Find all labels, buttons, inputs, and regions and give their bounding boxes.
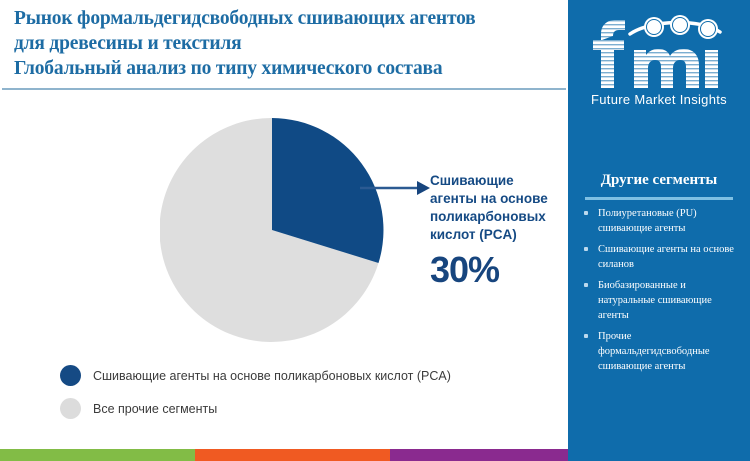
fmi-logo: Future Market Insights [568,0,750,110]
footer-color-bar [0,449,568,461]
callout-percentage: 30% [430,250,558,290]
bullet-icon [584,283,588,287]
pie-chart [160,118,384,343]
color-bar-green [0,449,195,461]
other-segments-title: Другие сегменты [568,172,750,189]
fmi-logo-tagline: Future Market Insights [591,92,727,107]
list-item: Прочие формальдегидсвободные сшивающие а… [584,329,742,374]
callout-arrow-icon [360,176,432,202]
chart-legend: Сшивающие агенты на основе поликарбоновы… [60,365,530,431]
title-line-1: Рынок формальдегидсвободных сшивающих аг… [14,6,559,31]
bullet-icon [584,211,588,215]
legend-swatch-icon [60,398,81,419]
callout-block: Сшивающие агенты на основе поликарбоновы… [430,172,558,290]
color-bar-purple [390,449,568,461]
other-segments-list: Полиуретановые (PU) сшивающие агенты Сши… [584,206,742,380]
legend-label: Сшивающие агенты на основе поликарбоновы… [93,369,451,383]
title-heading: Рынок формальдегидсвободных сшивающих аг… [14,6,559,81]
bullet-icon [584,334,588,338]
list-item-label: Биобазированные и натуральные сшивающие … [598,280,712,321]
infographic-canvas: Рынок формальдегидсвободных сшивающих аг… [0,0,750,461]
header-divider [2,88,566,90]
list-item: Биобазированные и натуральные сшивающие … [584,278,742,323]
other-segments-panel: Future Market Insights Другие сегменты П… [568,0,750,461]
list-item: Полиуретановые (PU) сшивающие агенты [584,206,742,236]
legend-item-other: Все прочие сегменты [60,398,530,419]
legend-swatch-icon [60,365,81,386]
title-line-2: для древесины и текстиля [14,31,559,56]
bullet-icon [584,247,588,251]
color-bar-orange [195,449,390,461]
other-segments-divider [585,197,733,200]
title-line-3: Глобальный анализ по типу химического со… [14,56,559,81]
list-item-label: Полиуретановые (PU) сшивающие агенты [598,208,697,234]
legend-label: Все прочие сегменты [93,402,217,416]
list-item-label: Прочие формальдегидсвободные сшивающие а… [598,331,710,372]
legend-item-pca: Сшивающие агенты на основе поликарбоновы… [60,365,530,386]
list-item-label: Сшивающие агенты на основе силанов [598,244,734,270]
list-item: Сшивающие агенты на основе силанов [584,242,742,272]
callout-label: Сшивающие агенты на основе поликарбоновы… [430,172,558,244]
page-title: Рынок формальдегидсвободных сшивающих аг… [14,6,559,81]
